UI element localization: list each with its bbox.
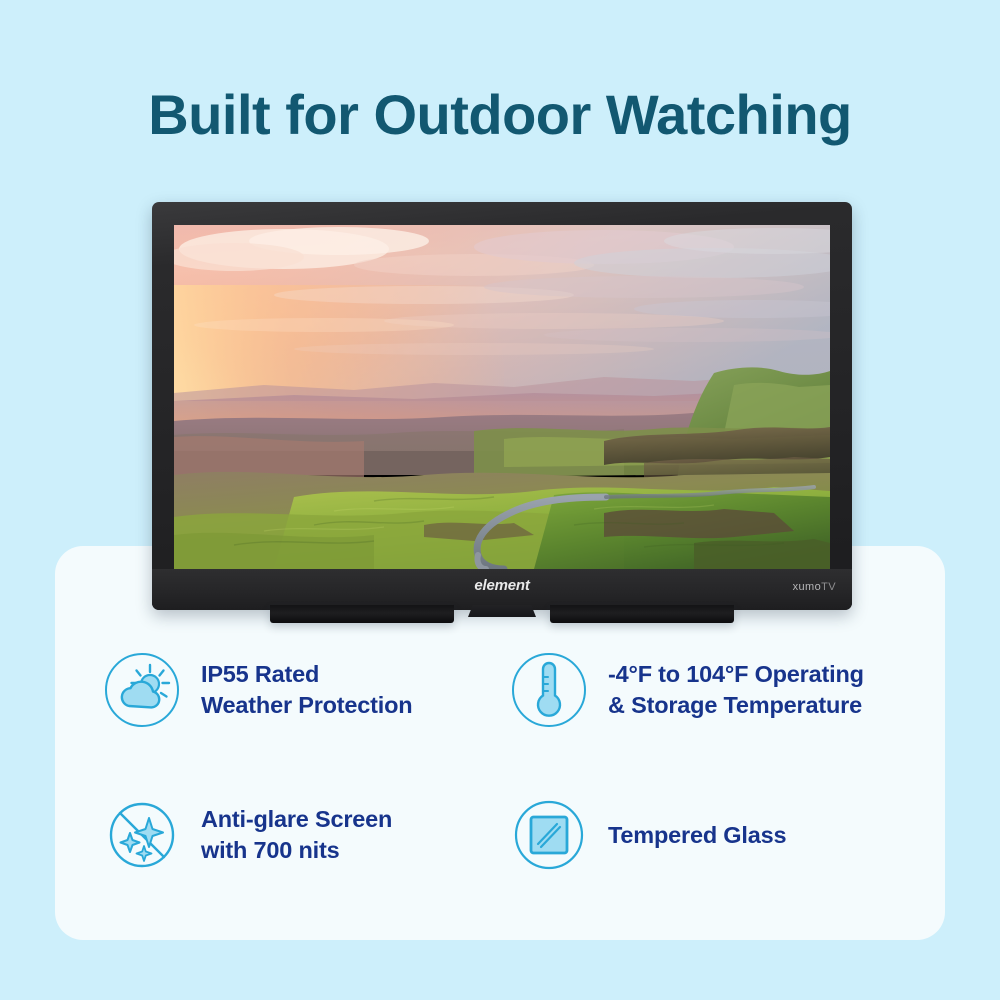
landscape-photo	[174, 225, 830, 569]
feature-label: Anti-glare Screen with 700 nits	[201, 804, 392, 865]
tempered-glass-icon	[510, 796, 588, 874]
feature-label: -4°F to 104°F Operating & Storage Temper…	[608, 659, 864, 720]
feature-label: Tempered Glass	[608, 820, 786, 851]
tv-screen	[174, 225, 830, 569]
feature-item-ip55-weather-protection: IP55 Rated Weather Protection	[103, 651, 412, 729]
feature-list: IP55 Rated Weather Protection -4°F to 10…	[55, 546, 945, 940]
anti-glare-icon	[103, 796, 181, 874]
thermometer-icon	[510, 651, 588, 729]
feature-item-operating-temperature: -4°F to 104°F Operating & Storage Temper…	[510, 651, 864, 729]
feature-label: IP55 Rated Weather Protection	[201, 659, 412, 720]
feature-item-anti-glare-screen: Anti-glare Screen with 700 nits	[103, 796, 392, 874]
feature-item-tempered-glass: Tempered Glass	[510, 796, 786, 874]
page-title: Built for Outdoor Watching	[0, 84, 1000, 146]
sun-cloud-icon	[103, 651, 181, 729]
